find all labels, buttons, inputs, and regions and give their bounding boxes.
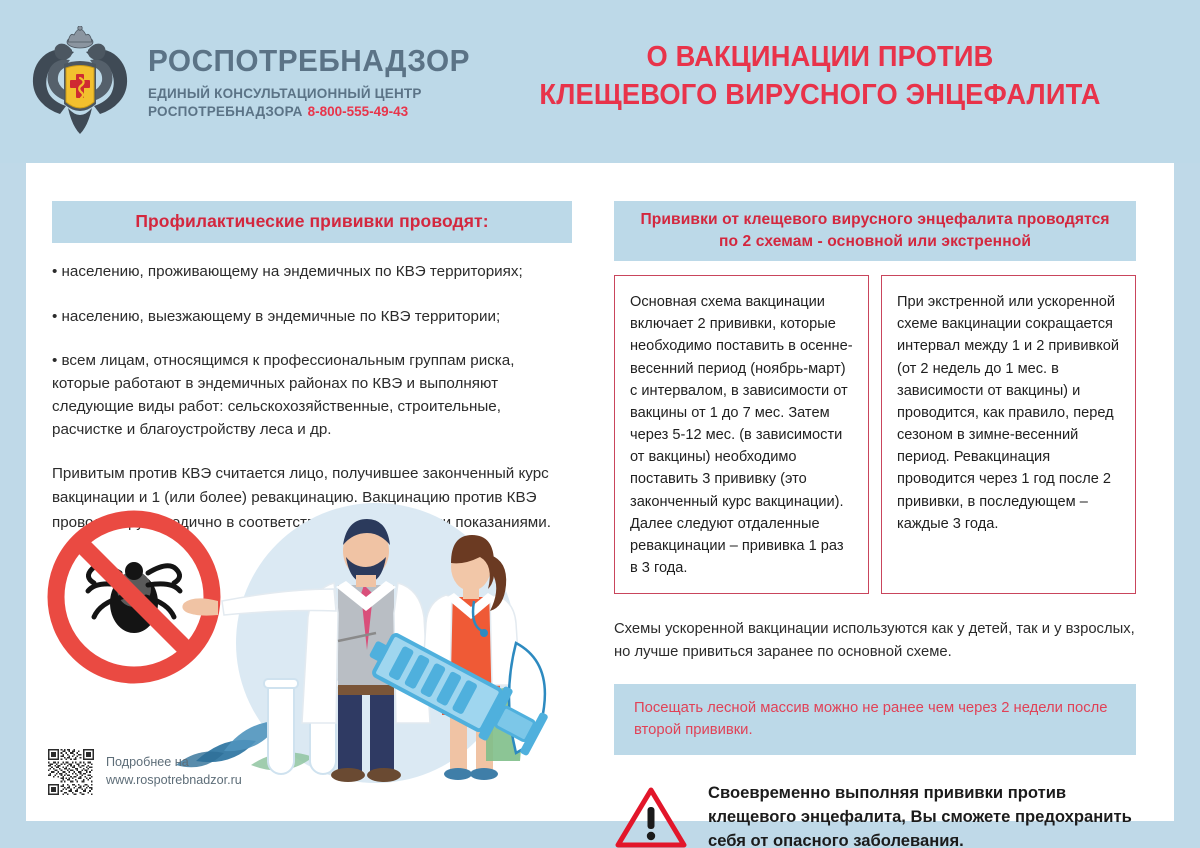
right-banner-line-2: по 2 схемам - основной или экстренной xyxy=(628,231,1122,253)
qr-code[interactable] xyxy=(48,749,94,795)
list-item: • всем лицам, относящимся к профессионал… xyxy=(52,350,572,441)
left-section-banner: Профилактические прививки проводят: xyxy=(52,201,572,243)
footer-text: Подробнее на www.rospotrebnadzor.ru xyxy=(106,754,242,790)
center-line-2-row: РОСПОТРЕБНАДЗОРА8-800-555-49-43 xyxy=(148,103,483,122)
warning-triangle-icon xyxy=(614,785,688,848)
center-line-1: ЕДИНЫЙ КОНСУЛЬТАЦИОННЫЙ ЦЕНТР xyxy=(148,85,483,104)
hotline-phone: 8-800-555-49-43 xyxy=(308,104,409,119)
right-banner-line-1: Прививки от клещевого вирусного энцефали… xyxy=(628,209,1122,231)
brand-block: РОСПОТРЕБНАДЗОР ЕДИНЫЙ КОНСУЛЬТАЦИОННЫЙ … xyxy=(26,26,483,138)
content-sheet: Профилактические прививки проводят: • на… xyxy=(26,163,1174,821)
accelerated-scheme-note: Схемы ускоренной вакцинации используются… xyxy=(614,618,1136,664)
website-url[interactable]: www.rospotrebnadzor.ru xyxy=(106,772,242,790)
double-headed-eagle-emblem xyxy=(26,26,134,138)
indications-list: • населению, проживающему на эндемичных … xyxy=(52,261,572,442)
forest-visit-highlight: Посещать лесной массив можно не ранее че… xyxy=(614,684,1136,755)
doctors-with-syringe-and-no-tick-sign xyxy=(46,493,576,783)
list-item: • населению, выезжающему в эндемичные по… xyxy=(52,306,572,329)
more-info-label: Подробнее на xyxy=(106,754,242,772)
center-line-2: РОСПОТРЕБНАДЗОРА xyxy=(148,104,303,119)
right-section-banner: Прививки от клещевого вирусного энцефали… xyxy=(614,201,1136,261)
list-item: • населению, проживающему на эндемичных … xyxy=(52,261,572,284)
schemes-box-row: Основная схема вакцинации включает 2 при… xyxy=(614,275,1136,594)
warning-text: Своевременно выполняя прививки против кл… xyxy=(708,781,1136,848)
page-title: О ВАКЦИНАЦИИ ПРОТИВ КЛЕЩЕВОГО ВИРУСНОГО … xyxy=(491,38,1149,115)
footer-qr-block[interactable]: Подробнее на www.rospotrebnadzor.ru xyxy=(48,749,242,795)
page-title-line-1: О ВАКЦИНАЦИИ ПРОТИВ xyxy=(491,38,1149,76)
emergency-scheme-box: При экстренной или ускоренной схеме вакц… xyxy=(881,275,1136,594)
right-column: Прививки от клещевого вирусного энцефали… xyxy=(614,201,1136,848)
brand-text: РОСПОТРЕБНАДЗОР ЕДИНЫЙ КОНСУЛЬТАЦИОННЫЙ … xyxy=(148,41,483,122)
header-band: РОСПОТРЕБНАДЗОР ЕДИНЫЙ КОНСУЛЬТАЦИОННЫЙ … xyxy=(0,0,1200,163)
poster-root: РОСПОТРЕБНАДЗОР ЕДИНЫЙ КОНСУЛЬТАЦИОННЫЙ … xyxy=(0,0,1200,848)
page-title-line-2: КЛЕЩЕВОГО ВИРУСНОГО ЭНЦЕФАЛИТА xyxy=(491,76,1149,114)
warning-block: Своевременно выполняя прививки против кл… xyxy=(614,781,1136,848)
no-tick-prohibition-sign xyxy=(56,519,212,675)
consultation-center-block: ЕДИНЫЙ КОНСУЛЬТАЦИОННЫЙ ЦЕНТР РОСПОТРЕБН… xyxy=(148,85,483,122)
left-column: Профилактические прививки проводят: • на… xyxy=(52,201,572,535)
basic-scheme-box: Основная схема вакцинации включает 2 при… xyxy=(614,275,869,594)
org-name: РОСПОТРЕБНАДЗОР xyxy=(148,45,470,78)
